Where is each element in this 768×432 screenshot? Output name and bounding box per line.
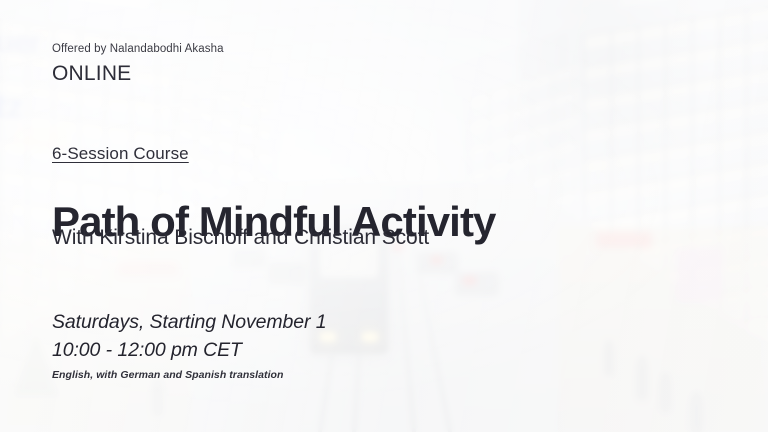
format-label: ONLINE [52, 62, 131, 86]
course-poster: uer tz E cot Offered by Nalandabodhi Aka… [0, 0, 768, 432]
poster-content: Offered by Nalandabodhi Akasha ONLINE 6-… [0, 0, 768, 432]
schedule-dates: Saturdays, Starting November 1 [52, 311, 326, 334]
language-note: English, with German and Spanish transla… [52, 369, 283, 381]
course-kicker: 6-Session Course [52, 144, 189, 164]
schedule-times: 10:00 - 12:00 pm CET [52, 339, 242, 362]
offered-by-line: Offered by Nalandabodhi Akasha [52, 43, 224, 55]
presenters-line: With Kirstina Bischoff and Christian Sco… [52, 226, 429, 250]
